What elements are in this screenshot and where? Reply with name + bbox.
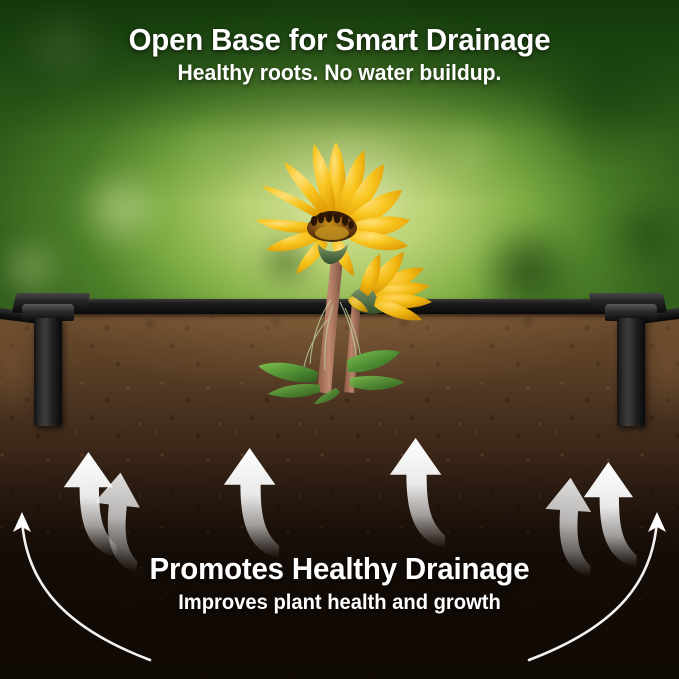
bottom-banner: Promotes Healthy Drainage Improves plant… xyxy=(0,553,679,615)
soil-mound-left xyxy=(0,312,46,432)
bottom-headline: Promotes Healthy Drainage xyxy=(17,553,662,585)
product-feature-image: Open Base for Smart Drainage Healthy roo… xyxy=(0,0,679,679)
soil-surface-clumps xyxy=(0,312,679,376)
top-banner: Open Base for Smart Drainage Healthy roo… xyxy=(0,24,679,86)
top-subheadline: Healthy roots. No water buildup. xyxy=(14,60,666,86)
top-headline: Open Base for Smart Drainage xyxy=(17,24,662,56)
soil-mound-right xyxy=(633,312,679,432)
bottom-subheadline: Improves plant health and growth xyxy=(14,591,666,615)
soil-bed xyxy=(0,312,679,679)
